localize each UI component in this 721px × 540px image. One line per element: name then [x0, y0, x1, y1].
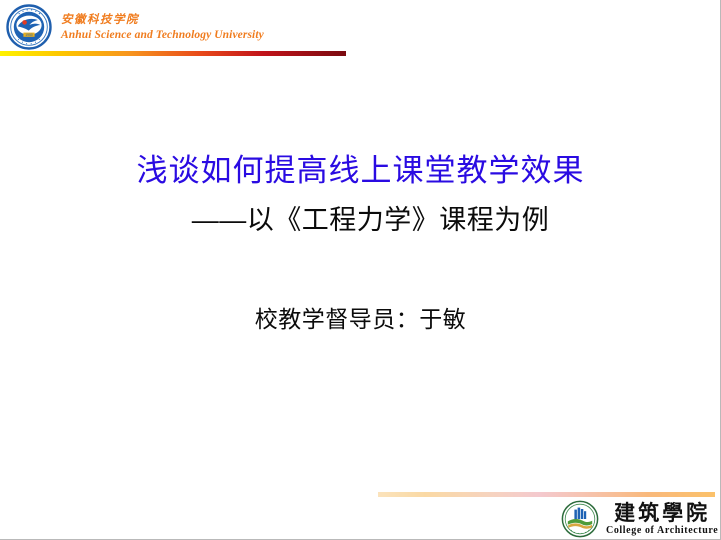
university-brand: 1950 安徽科技学院 Anhui Science and Technology… — [6, 4, 264, 50]
university-name-block: 安徽科技学院 Anhui Science and Technology Univ… — [61, 12, 264, 41]
college-name-cn: 建筑學院 — [614, 502, 710, 524]
top-gradient-rule — [0, 51, 346, 56]
svg-text:1950: 1950 — [25, 33, 33, 37]
university-name-en: Anhui Science and Technology University — [61, 29, 264, 42]
college-name-en: College of Architecture — [606, 525, 718, 536]
university-seal-icon: 1950 — [6, 4, 52, 50]
title-block: 浅谈如何提高线上课堂教学效果 ——以《工程力学》课程为例 — [0, 152, 721, 238]
college-name-block: 建筑學院 College of Architecture — [606, 502, 718, 535]
bottom-gradient-rule — [378, 492, 715, 497]
page-subtitle: ——以《工程力学》课程为例 — [0, 203, 721, 238]
college-brand: 建筑學院 College of Architecture — [561, 500, 718, 538]
presenter-line: 校教学督导员：于敏 — [0, 300, 721, 334]
presentation-slide: 1950 安徽科技学院 Anhui Science and Technology… — [0, 0, 721, 540]
college-seal-icon — [561, 500, 599, 538]
page-title: 浅谈如何提高线上课堂教学效果 — [0, 152, 721, 191]
university-name-cn: 安徽科技学院 — [61, 14, 264, 27]
